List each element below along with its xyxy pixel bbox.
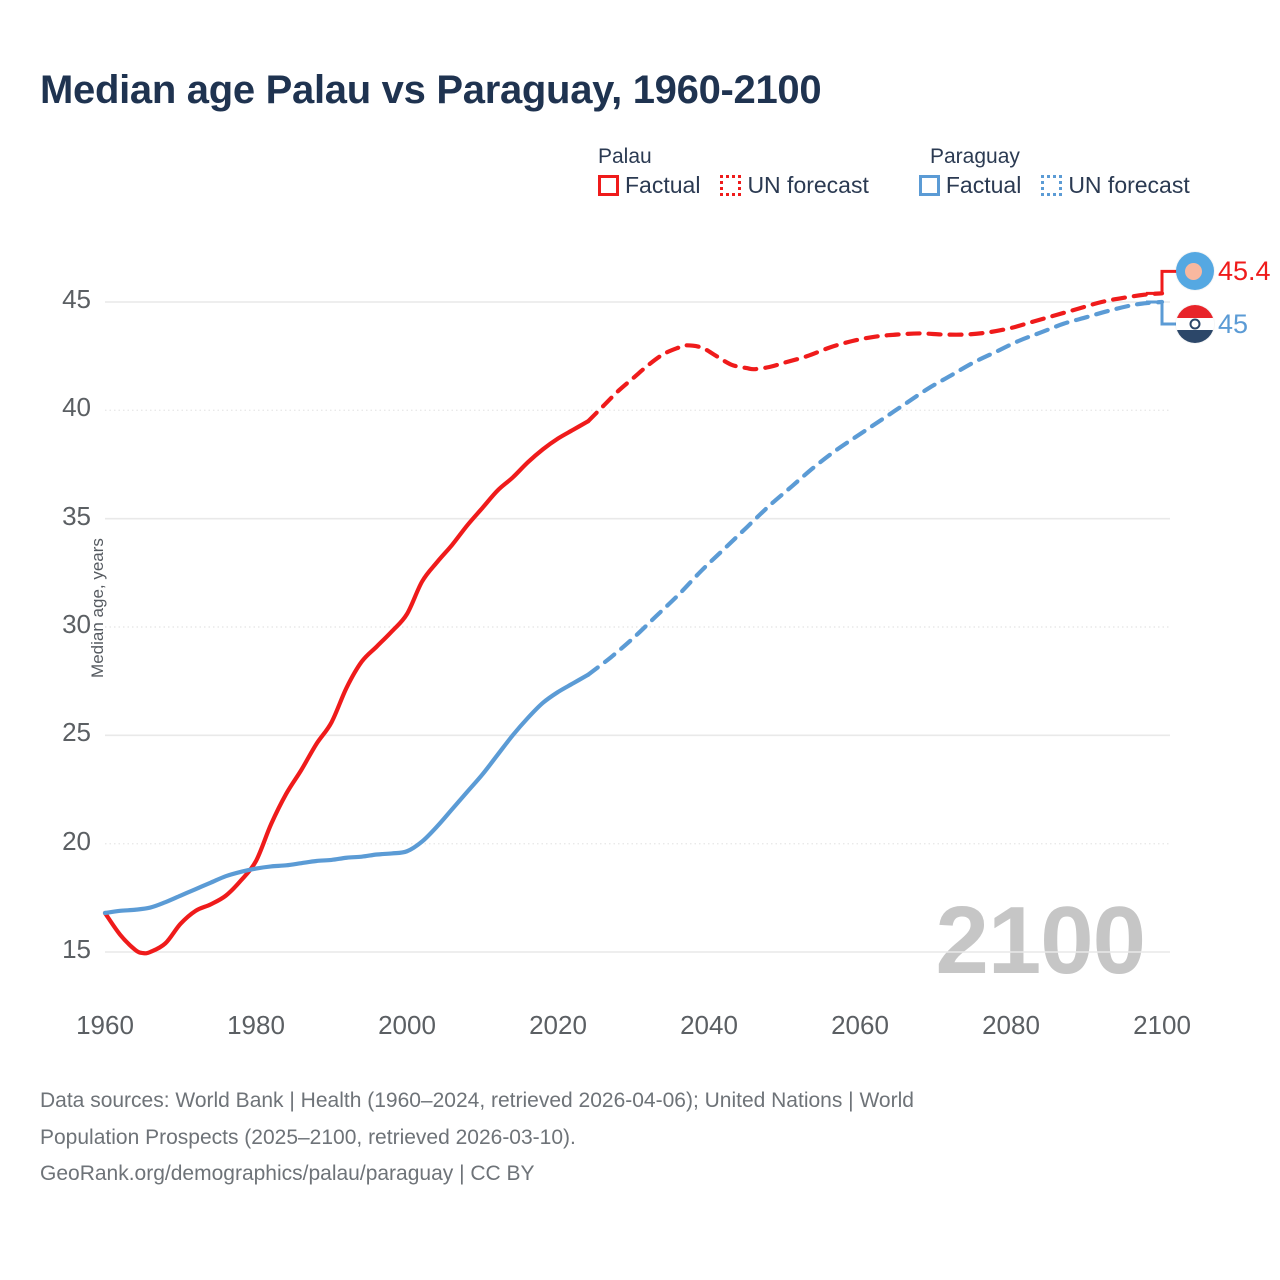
legend-item-palau-forecast[interactable]: UN forecast <box>720 172 868 199</box>
x-tick-label: 2100 <box>1102 1010 1222 1041</box>
series-line-paraguay-factual <box>105 675 588 913</box>
series-line-palau-forecast <box>588 293 1162 421</box>
x-tick-label: 2020 <box>498 1010 618 1041</box>
y-tick-label: 40 <box>31 392 91 423</box>
x-tick-label: 2060 <box>800 1010 920 1041</box>
paraguay-flag-icon <box>1176 305 1214 343</box>
chart-page: Median age Palau vs Paraguay, 1960-2100 … <box>0 0 1280 1280</box>
legend-items-palau: Factual UN forecast <box>598 172 889 199</box>
legend-label-palau-forecast: UN forecast <box>747 172 868 199</box>
y-tick-label: 35 <box>31 501 91 532</box>
x-tick-label: 2040 <box>649 1010 769 1041</box>
y-tick-label: 20 <box>31 826 91 857</box>
legend-item-paraguay-forecast[interactable]: UN forecast <box>1041 172 1189 199</box>
y-tick-label: 30 <box>31 609 91 640</box>
x-tick-label: 1980 <box>196 1010 316 1041</box>
legend-label-paraguay-factual: Factual <box>946 172 1021 199</box>
legend-group-titles: Palau Paraguay <box>598 144 1230 170</box>
x-tick-label: 1960 <box>45 1010 165 1041</box>
legend-item-palau-factual[interactable]: Factual <box>598 172 700 199</box>
footer-line-3[interactable]: GeoRank.org/demographics/palau/paraguay … <box>40 1158 1170 1191</box>
y-tick-label: 15 <box>31 934 91 965</box>
end-connector-paraguay <box>1146 302 1178 324</box>
legend-items-paraguay: Factual UN forecast <box>919 172 1210 199</box>
end-marker-palau[interactable]: 45.4 <box>1176 252 1271 290</box>
legend-label-paraguay-forecast: UN forecast <box>1068 172 1189 199</box>
y-axis-label: Median age, years <box>88 488 108 728</box>
end-connector-palau <box>1146 271 1178 293</box>
y-tick-label: 25 <box>31 717 91 748</box>
footer-sources: Data sources: World Bank | Health (1960–… <box>40 1085 1170 1195</box>
end-value-palau: 45.4 <box>1218 258 1271 285</box>
legend-group-title-palau: Palau <box>598 144 930 170</box>
watermark-year: 2100 <box>935 893 1145 989</box>
end-value-paraguay: 45 <box>1218 311 1248 338</box>
palau-flag-icon <box>1176 252 1214 290</box>
legend-swatch-solid-red-icon <box>598 175 619 196</box>
legend-label-palau-factual: Factual <box>625 172 700 199</box>
footer-line-1: Data sources: World Bank | Health (1960–… <box>40 1085 1170 1118</box>
legend-group-title-paraguay: Paraguay <box>930 144 1230 170</box>
legend-entries: Factual UN forecast Factual UN forecast <box>598 172 1230 199</box>
chart-legend: Palau Paraguay Factual UN forecast Factu… <box>598 144 1230 199</box>
series-line-paraguay-forecast <box>588 302 1162 675</box>
legend-item-paraguay-factual[interactable]: Factual <box>919 172 1021 199</box>
x-tick-label: 2080 <box>951 1010 1071 1041</box>
legend-swatch-dotted-red-icon <box>720 175 741 196</box>
legend-swatch-dotted-blue-icon <box>1041 175 1062 196</box>
page-title: Median age Palau vs Paraguay, 1960-2100 <box>40 68 821 113</box>
footer-line-2: Population Prospects (2025–2100, retriev… <box>40 1122 1170 1155</box>
legend-swatch-solid-blue-icon <box>919 175 940 196</box>
y-tick-label: 45 <box>31 284 91 315</box>
end-marker-paraguay[interactable]: 45 <box>1176 305 1248 343</box>
series-line-palau-factual <box>105 421 588 953</box>
x-tick-label: 2000 <box>347 1010 467 1041</box>
